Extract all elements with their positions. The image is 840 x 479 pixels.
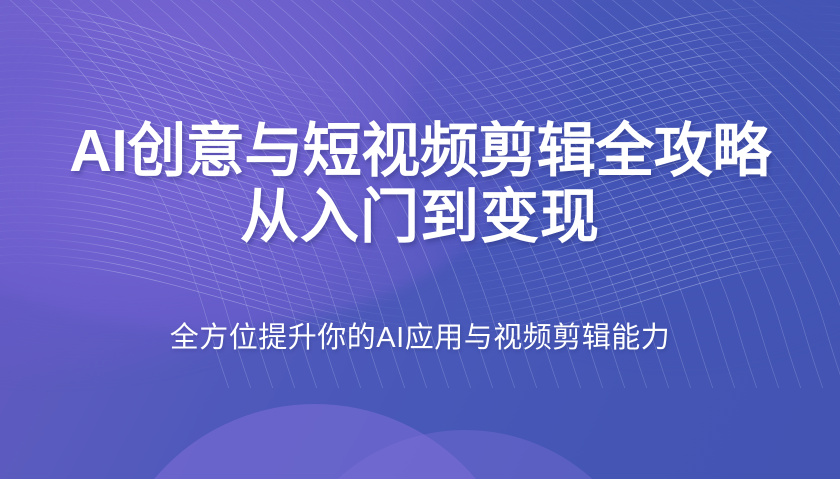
course-cover-banner: AI创意与短视频剪辑全攻略 从入门到变现 全方位提升你的AI应用与视频剪辑能力 bbox=[0, 0, 840, 479]
banner-title: AI创意与短视频剪辑全攻略 从入门到变现 bbox=[0, 118, 840, 250]
title-line-1: AI创意与短视频剪辑全攻略 bbox=[0, 118, 840, 184]
title-line-2: 从入门到变现 bbox=[0, 184, 840, 250]
banner-subtitle: 全方位提升你的AI应用与视频剪辑能力 bbox=[0, 320, 840, 356]
banner-content: AI创意与短视频剪辑全攻略 从入门到变现 全方位提升你的AI应用与视频剪辑能力 bbox=[0, 0, 840, 479]
